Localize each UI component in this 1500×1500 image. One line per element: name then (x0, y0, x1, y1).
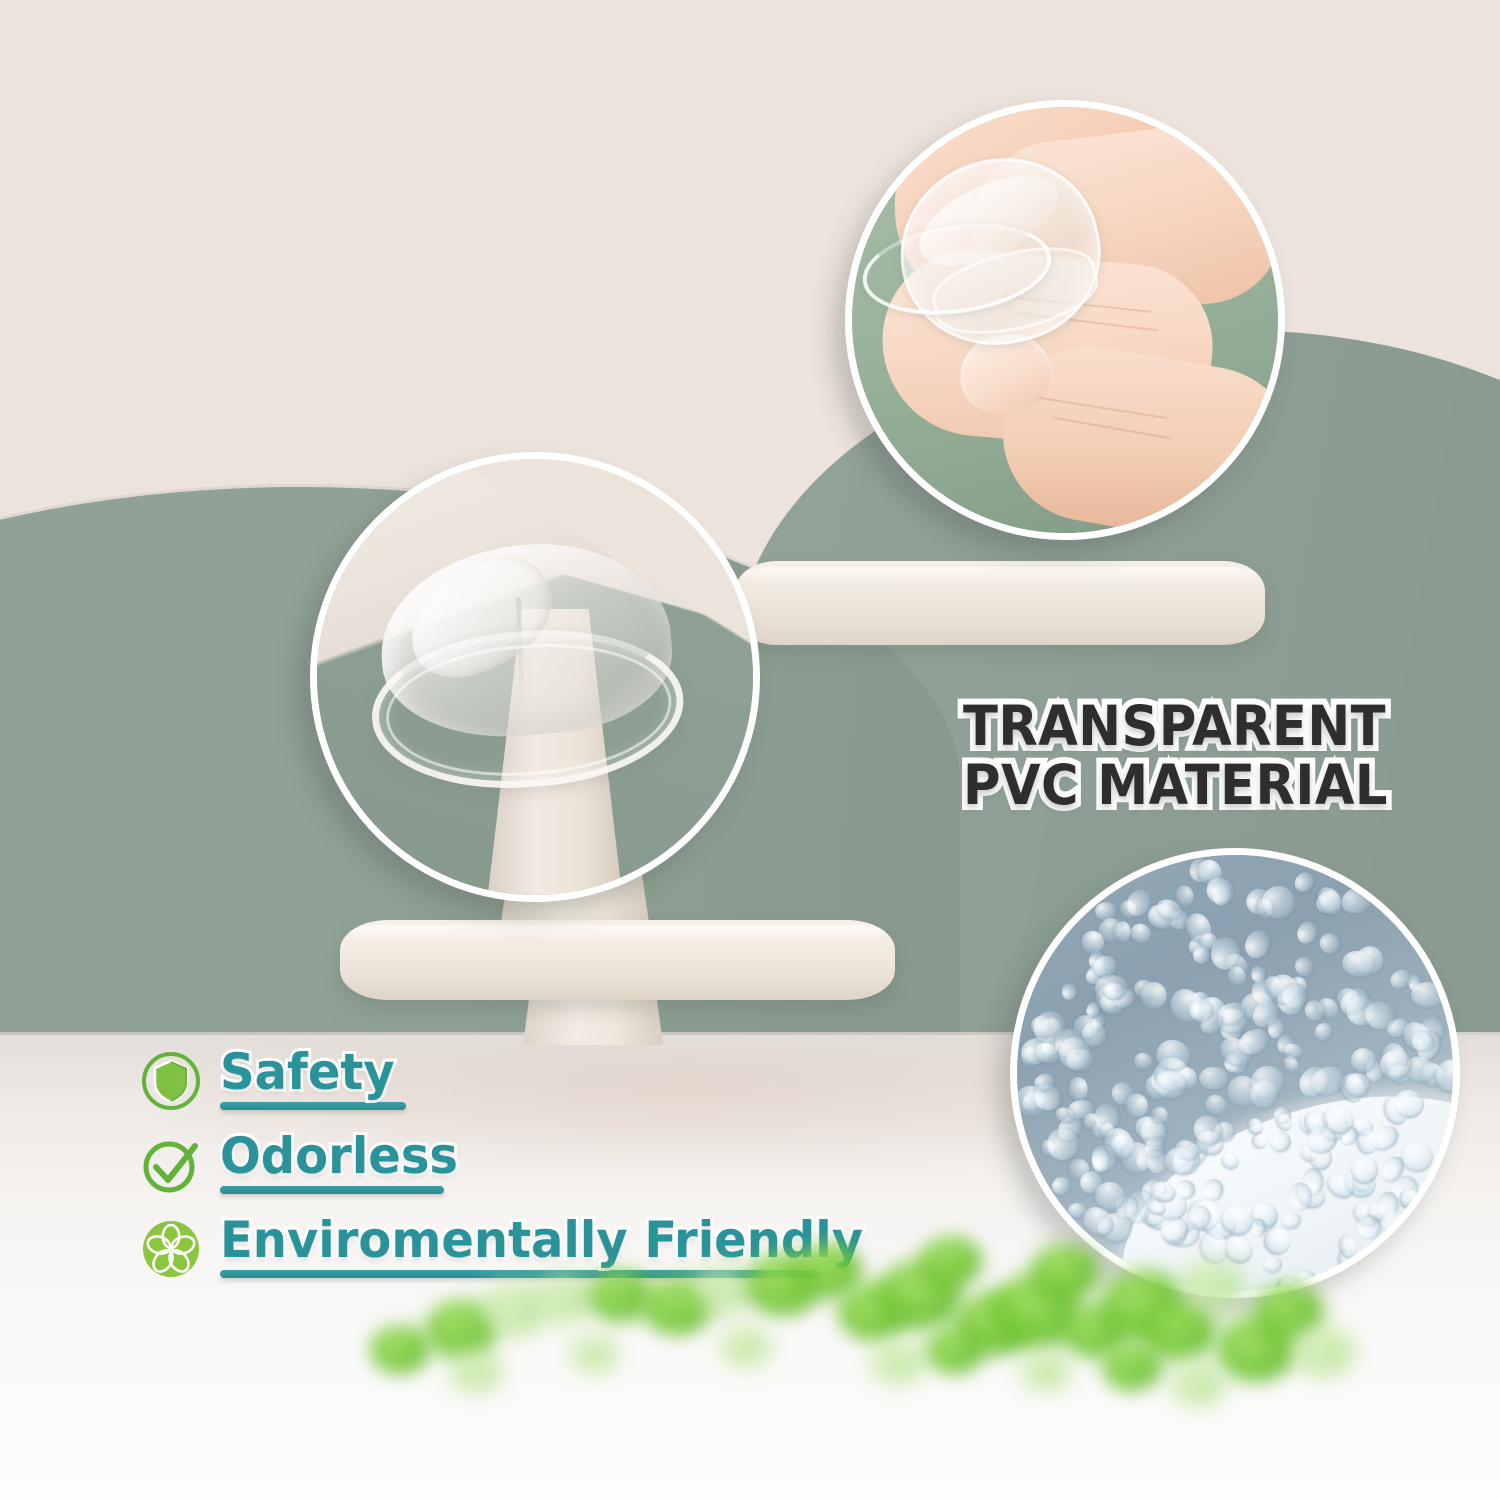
pellet (1337, 883, 1376, 918)
foliage-leaf (535, 1274, 593, 1322)
foliage-leaf (920, 1236, 982, 1287)
pellet (1411, 982, 1445, 1008)
pellet (1131, 1049, 1155, 1072)
shield-icon (140, 1050, 202, 1112)
feature-underline (220, 1186, 444, 1194)
pellet (1428, 1052, 1460, 1098)
foliage-leaf (870, 1340, 924, 1384)
pellet (1199, 1066, 1230, 1090)
pellet (1049, 1174, 1074, 1199)
foliage-leaf (570, 1334, 618, 1373)
foliage-leaf (450, 1350, 502, 1393)
flower-icon (140, 1218, 202, 1280)
pellet (1113, 921, 1131, 943)
foliage-leaf (1020, 1350, 1070, 1391)
feature-label: Odorless (220, 1131, 458, 1181)
callout-product-closeup (310, 452, 760, 902)
foliage-leaf (1030, 1244, 1100, 1301)
feature-label-wrap-safety: Safety (220, 1047, 406, 1116)
pellet (1291, 868, 1319, 896)
pellet (1316, 929, 1344, 958)
feature-label-wrap-odorless: Odorless (220, 1131, 468, 1200)
pellet (1250, 1080, 1279, 1109)
product-feature-graphic: TRANSPARENT PVC MATERIAL Safety (0, 0, 1500, 1500)
foreground-foliage (330, 1230, 1380, 1490)
transparent-bumper-magnified (361, 534, 693, 805)
pellet (1291, 954, 1317, 980)
feature-item-odorless: Odorless (140, 1129, 890, 1201)
foliage-leaf (1102, 1342, 1162, 1391)
feature-item-safety: Safety (140, 1045, 890, 1117)
foliage-leaf (1292, 1326, 1354, 1377)
pellet (1293, 918, 1321, 947)
pellet (1218, 1149, 1242, 1172)
pellet (1068, 1077, 1088, 1101)
pellet (1280, 1210, 1303, 1230)
pellet (1315, 1023, 1333, 1041)
pvc-resin-pellets (1017, 855, 1453, 1291)
upper-shelf-platform (735, 561, 1265, 645)
pellet (1060, 982, 1078, 1001)
pellet (1313, 883, 1346, 919)
page-title: TRANSPARENT PVC MATERIAL (963, 697, 1388, 816)
foliage-leaf (1170, 1360, 1226, 1406)
pellet (1124, 1093, 1148, 1118)
foliage-leaf (692, 1266, 750, 1314)
foliage-leaf (720, 1326, 770, 1367)
foliage-leaf (926, 1326, 984, 1374)
feature-underline (220, 1102, 406, 1110)
pellet (1267, 1129, 1294, 1156)
feature-label: Safety (220, 1047, 395, 1097)
pellet (1241, 925, 1275, 961)
check-circle-icon (140, 1134, 202, 1196)
foliage-leaf (1180, 1260, 1244, 1312)
callout-hand-holding-bumper (845, 100, 1285, 540)
foliage-leaf (370, 1325, 430, 1374)
podium-disc (340, 920, 895, 1000)
foliage-leaf (588, 1270, 652, 1322)
